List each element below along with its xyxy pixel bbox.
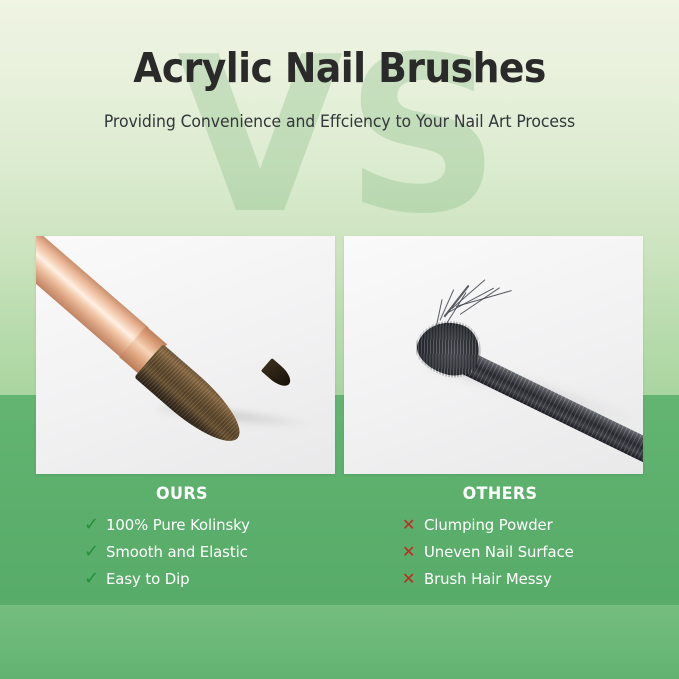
check-icon: ✓ [84,570,106,588]
product-comparison-infographic: VS Acrylic Nail Brushes Providing Conven… [0,0,679,679]
cross-icon: ✕ [402,517,424,533]
cross-icon: ✕ [402,544,424,560]
feature-label: Easy to Dip [106,570,189,588]
column-heading-others: OTHERS [359,484,641,504]
check-icon: ✓ [84,516,106,534]
background-green-footer [0,605,679,679]
product-image-ours [36,236,335,474]
list-item: ✕ Clumping Powder [402,511,650,538]
page-title: Acrylic Nail Brushes [27,47,652,90]
feature-label: Clumping Powder [424,516,553,534]
feature-list-ours: ✓ 100% Pure Kolinsky ✓ Smooth and Elasti… [32,511,332,592]
check-icon: ✓ [84,543,106,561]
feature-list-others: ✕ Clumping Powder ✕ Uneven Nail Surface … [350,511,650,592]
column-heading-ours: OURS [41,484,323,504]
list-item: ✕ Brush Hair Messy [402,565,650,592]
list-item: ✓ Smooth and Elastic [84,538,332,565]
brush-tip [261,358,295,391]
comparison-column-others: OTHERS ✕ Clumping Powder ✕ Uneven Nail S… [350,484,650,592]
cross-icon: ✕ [402,571,424,587]
list-item: ✓ 100% Pure Kolinsky [84,511,332,538]
photo-ours [36,236,335,474]
comparison-column-ours: OURS ✓ 100% Pure Kolinsky ✓ Smooth and E… [32,484,332,592]
feature-label: Brush Hair Messy [424,570,552,588]
list-item: ✓ Easy to Dip [84,565,332,592]
feature-label: 100% Pure Kolinsky [106,516,250,534]
list-item: ✕ Uneven Nail Surface [402,538,650,565]
photo-others [344,236,643,474]
brush-bristles-kolinsky [134,344,252,455]
feature-label: Uneven Nail Surface [424,543,574,561]
page-subtitle: Providing Convenience and Effciency to Y… [17,112,662,131]
product-image-others [344,236,643,474]
feature-label: Smooth and Elastic [106,543,248,561]
